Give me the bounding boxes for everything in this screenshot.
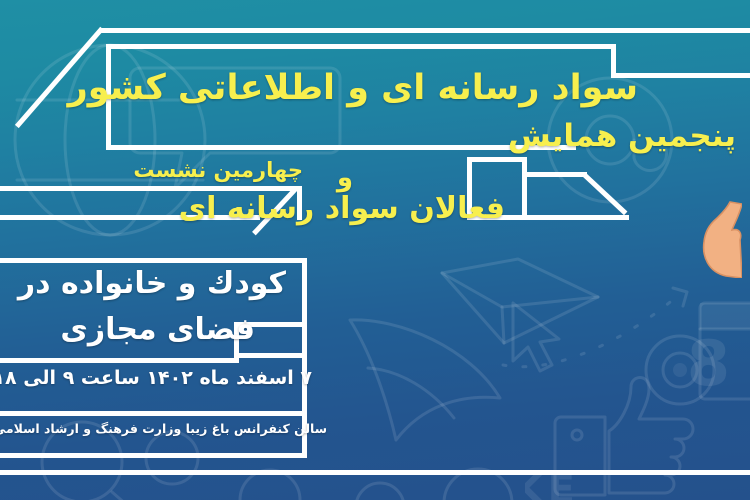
header-line-1: سواد رسانه ای و اطلاعاتی کشور [68, 68, 638, 108]
frame-title-box-bottom [106, 145, 576, 150]
frame-subject-box-top [0, 258, 307, 263]
header-line-5: فعالان سواد رسانه ای [179, 191, 505, 226]
frame-vav-box-top [467, 157, 527, 162]
event-date-time: ۷ اسفند ماه ۱۴۰۲ ساعت ۹ الی ۱۸ [0, 367, 312, 389]
location-pin-icon [330, 290, 530, 490]
subject-line-2: فضای مجازی [60, 312, 255, 347]
conference-poster: LIKE 8 [0, 0, 750, 500]
subject-line-1: كودك و خانواده در [18, 266, 286, 301]
frame-date-divider [0, 358, 239, 363]
frame-bottom-rule [0, 470, 750, 475]
frame-title-box-top [106, 44, 616, 49]
frame-venue-divider [0, 411, 307, 416]
pointing-hand-icon [696, 198, 742, 278]
svg-text:8: 8 [690, 327, 730, 400]
frame-vav-diagonal [582, 172, 628, 215]
cursor-arrow-icon [495, 295, 575, 385]
circle-doodles-icon [230, 455, 550, 500]
frame-vav-right-horizontal [527, 172, 587, 177]
calendar-8-icon: 8 [690, 285, 750, 425]
header-line-4: چهارمین نشست [133, 158, 303, 182]
frame-top-horizontal [100, 28, 750, 33]
frame-vav-box-right [522, 157, 527, 220]
dotted-path-icon [495, 280, 745, 390]
frame-vav-right-bottom [527, 215, 629, 220]
gear-icon [625, 315, 735, 425]
header-conjunction: و [337, 163, 353, 193]
frame-subject-step-bottom [234, 353, 307, 358]
frame-subject-box-bottom [0, 453, 307, 458]
globe-icon [0, 20, 260, 280]
header-line-2: پنجمین همایش [508, 118, 736, 154]
event-venue: سالن کنفرانس باغ زیبا وزارت فرهنگ و ارشا… [0, 421, 327, 436]
thumbs-up-like-icon: LIKE [525, 355, 735, 500]
envelope-icon [430, 245, 610, 365]
